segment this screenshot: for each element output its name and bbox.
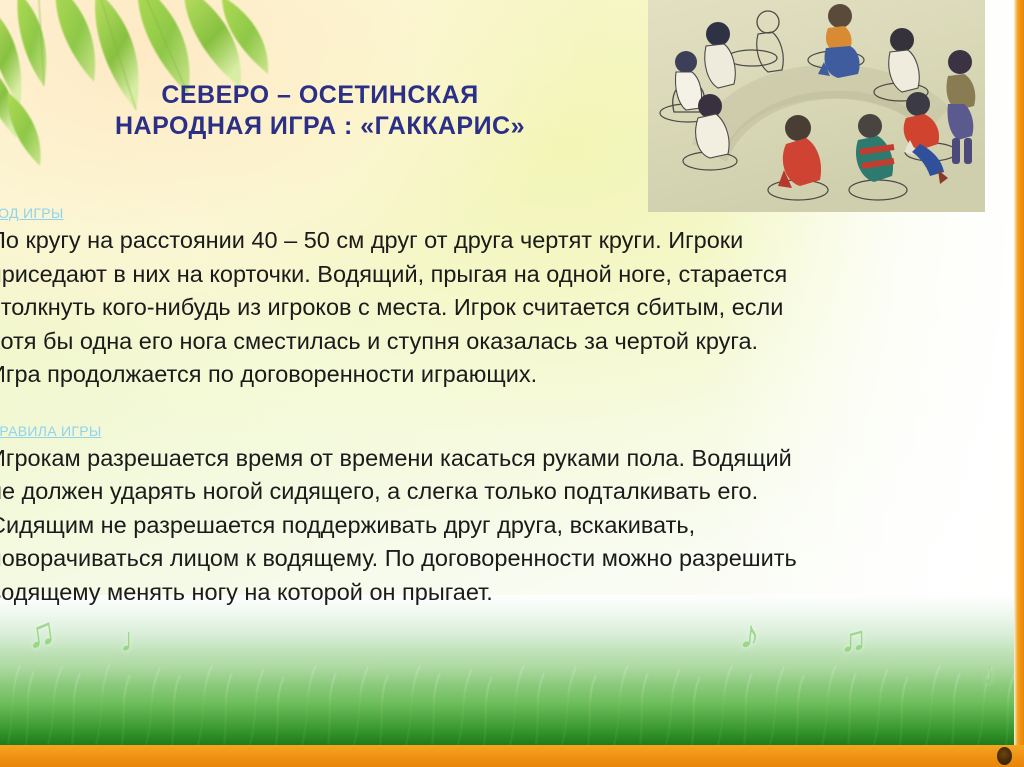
text-line: Игра продолжается по договоренности игра… bbox=[0, 358, 964, 392]
text-line: поворачиваться лицом к водящему. По дого… bbox=[0, 542, 964, 576]
text-line: приседают в них на корточки. Водящий, пр… bbox=[0, 258, 964, 292]
grass-band: ♫ ♩ ♪ ♫ ♩ bbox=[0, 595, 1024, 745]
text-line: водящему менять ногу на которой он прыга… bbox=[0, 576, 964, 610]
slide-corner-dot bbox=[997, 747, 1012, 765]
title-line-2: НАРОДНАЯ ИГРА : «ГАККАРИС» bbox=[0, 111, 640, 142]
music-note-icon: ♪ bbox=[738, 614, 762, 656]
slide-border-right bbox=[1014, 0, 1024, 767]
section-pravila-igry: ПРАВИЛА ИГРЫ Игрокам разрешается время о… bbox=[0, 422, 964, 610]
section-spacer bbox=[0, 392, 964, 422]
music-note-icon: ♫ bbox=[23, 611, 58, 655]
game-illustration-image bbox=[648, 0, 985, 212]
music-note-icon: ♩ bbox=[120, 623, 154, 657]
presentation-slide: СЕВЕРО – ОСЕТИНСКАЯ НАРОДНАЯ ИГРА : «ГАК… bbox=[0, 0, 1024, 767]
title-line-1: СЕВЕРО – ОСЕТИНСКАЯ bbox=[0, 80, 640, 111]
text-line: хотя бы одна его нога сместилась и ступн… bbox=[0, 325, 964, 359]
slide-border-bottom bbox=[0, 745, 1024, 767]
section-heading-hod-igry[interactable]: ХОД ИГРЫ bbox=[0, 204, 964, 222]
slide-body: ХОД ИГРЫ По кругу на расстоянии 40 – 50 … bbox=[0, 204, 964, 609]
section-text-pravila-igry: Игрокам разрешается время от времени кас… bbox=[0, 442, 964, 610]
music-note-icon: ♫ bbox=[840, 621, 867, 657]
section-hod-igry: ХОД ИГРЫ По кругу на расстоянии 40 – 50 … bbox=[0, 204, 964, 392]
text-line: По кругу на расстоянии 40 – 50 см друг о… bbox=[0, 224, 964, 258]
text-line: Сидящим не разрешается поддерживать друг… bbox=[0, 509, 964, 543]
text-line: Игрокам разрешается время от времени кас… bbox=[0, 442, 964, 476]
section-text-hod-igry: По кругу на расстоянии 40 – 50 см друг о… bbox=[0, 224, 964, 392]
text-line: столкнуть кого-нибудь из игроков с места… bbox=[0, 291, 964, 325]
music-note-icon: ♩ bbox=[982, 657, 1014, 689]
text-line: не должен ударять ногой сидящего, а слег… bbox=[0, 475, 964, 509]
slide-title: СЕВЕРО – ОСЕТИНСКАЯ НАРОДНАЯ ИГРА : «ГАК… bbox=[0, 80, 640, 142]
section-heading-pravila-igry[interactable]: ПРАВИЛА ИГРЫ bbox=[0, 422, 964, 440]
